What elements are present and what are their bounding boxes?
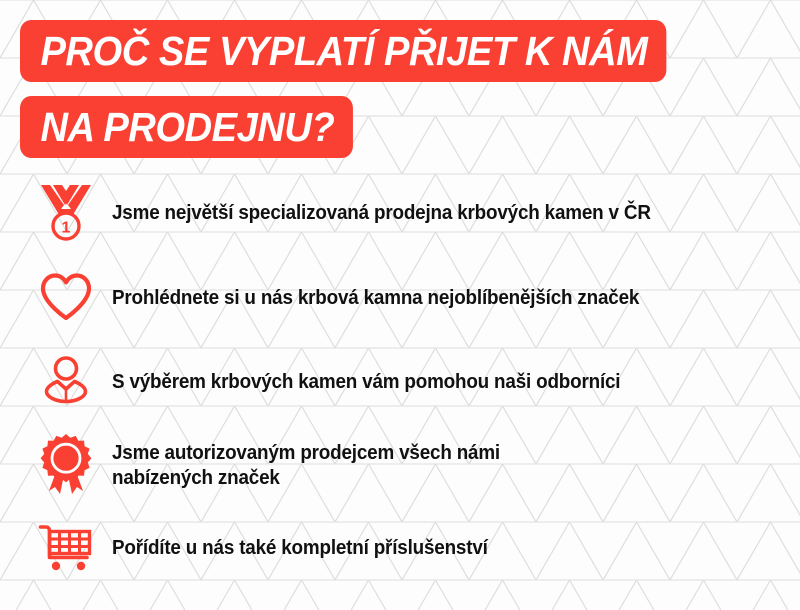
benefit-row: Pořídíte u nás také kompletní příslušens… xyxy=(20,518,790,576)
benefit-icon-slot: 1 xyxy=(20,183,112,241)
benefit-row: S výběrem krbových kamen vám pomohou naš… xyxy=(20,352,790,410)
benefit-text: Jsme autorizovaným prodejcem všech námi … xyxy=(112,440,500,490)
award-rosette-icon xyxy=(39,434,93,496)
benefit-icon-slot xyxy=(20,522,112,572)
benefit-text: S výběrem krbových kamen vám pomohou naš… xyxy=(112,369,620,394)
heading-line-2: NA PRODEJNU? xyxy=(20,96,353,158)
benefit-row: Jsme autorizovaným prodejcem všech námi … xyxy=(20,430,790,500)
heading-line-1: PROČ SE VYPLATÍ PŘIJET K NÁM xyxy=(20,20,666,82)
benefit-text: Jsme největší specializovaná prodejna kr… xyxy=(112,200,651,225)
benefit-text: Pořídíte u nás také kompletní příslušens… xyxy=(112,535,488,560)
infographic-page: PROČ SE VYPLATÍ PŘIJET K NÁM NA PRODEJNU… xyxy=(0,0,800,610)
medal-number-label: 1 xyxy=(62,220,71,237)
benefit-row: 1 Jsme největší specializovaná prodejna … xyxy=(20,183,790,241)
benefit-text: Prohlédnete si u nás krbová kamna nejobl… xyxy=(112,285,639,310)
heart-outline-icon xyxy=(39,272,93,322)
person-advisor-icon xyxy=(39,355,93,407)
shopping-cart-icon xyxy=(38,522,94,572)
benefit-row: Prohlédnete si u nás krbová kamna nejobl… xyxy=(20,268,790,326)
benefit-icon-slot xyxy=(20,434,112,496)
benefit-icon-slot xyxy=(20,355,112,407)
medal-first-place-icon: 1 xyxy=(39,183,93,241)
benefit-icon-slot xyxy=(20,272,112,322)
